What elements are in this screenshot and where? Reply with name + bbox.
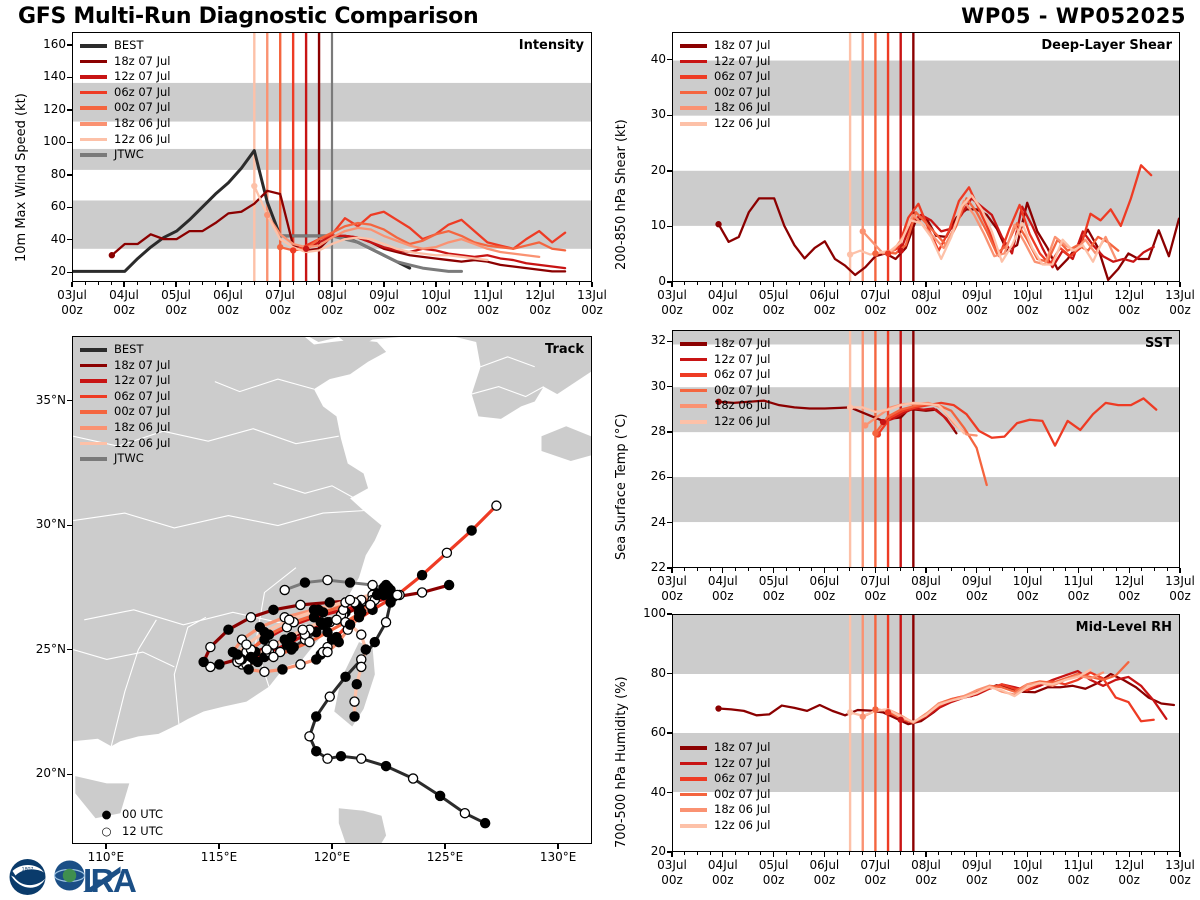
x-minor-tick: [760, 568, 761, 571]
legend-swatch: [680, 75, 707, 79]
x-minor-tick: [475, 282, 476, 285]
x-minor-tick: [1141, 282, 1142, 285]
track-marker-12utc: [206, 642, 215, 651]
x-minor-tick: [254, 282, 255, 285]
legend-label: 18z 06 Jul: [714, 802, 771, 818]
x-minor-tick: [710, 568, 711, 571]
legend-item: 18z 07 Jul: [680, 336, 771, 352]
legend-item: 00z 07 Jul: [80, 404, 171, 420]
run-init-marker: [898, 248, 904, 254]
run-init-marker: [885, 250, 891, 256]
legend-label: JTWC: [114, 147, 144, 163]
legend-swatch: [680, 420, 707, 424]
track-marker-00utc: [418, 571, 427, 580]
legend-item: 06z 07 Jul: [80, 85, 171, 101]
x-minor-tick: [1078, 568, 1079, 571]
legend-item: 18z 06 Jul: [680, 398, 771, 414]
x-tick-label: 03Jul00z: [42, 288, 102, 318]
legend-item: 12z 06 Jul: [680, 116, 771, 132]
y-tick-mark: [67, 44, 72, 45]
x-minor-tick: [397, 282, 398, 285]
track-marker-00utc: [269, 605, 278, 614]
y-tick-mark: [67, 142, 72, 143]
legend-swatch: [80, 457, 107, 461]
legend-swatch: [80, 364, 107, 368]
x-minor-tick: [345, 282, 346, 285]
x-minor-tick: [697, 568, 698, 571]
x-minor-tick: [1053, 282, 1054, 285]
x-tick-label: 07Jul00z: [250, 288, 310, 318]
x-minor-tick: [1154, 568, 1155, 571]
legend-swatch: [680, 824, 707, 828]
track-marker-12utc: [260, 667, 269, 676]
track-marker-12utc: [350, 697, 359, 706]
x-tick-label: 13Jul00z: [1150, 858, 1200, 888]
track-marker-00utc: [287, 645, 296, 654]
run-init-marker: [872, 250, 878, 256]
y-tick-mark: [67, 239, 72, 240]
legend-swatch: [680, 793, 707, 797]
track-marker-12utc: [357, 630, 366, 639]
track-marker-00utc: [316, 618, 325, 627]
x-minor-tick: [1065, 852, 1066, 855]
marker-legend-item: ●00 UTC: [100, 806, 163, 823]
map-lat-tick: [67, 525, 72, 526]
legend-swatch: [80, 106, 107, 110]
track-marker-00utc: [199, 657, 208, 666]
track-marker-00utc: [280, 635, 289, 644]
y-tick-mark: [667, 341, 672, 342]
x-minor-tick: [1141, 568, 1142, 571]
legend-item: 18z 07 Jul: [80, 358, 171, 374]
x-minor-tick: [684, 568, 685, 571]
x-minor-tick: [976, 568, 977, 571]
track-marker-12utc: [296, 600, 305, 609]
legend-item: 12z 07 Jul: [680, 756, 771, 772]
x-minor-tick: [1129, 568, 1130, 571]
legend-label: 00z 07 Jul: [714, 787, 771, 803]
legend-label: 06z 07 Jul: [714, 367, 771, 383]
intensity-panel-tag: Intensity: [519, 38, 584, 53]
x-minor-tick: [913, 282, 914, 285]
x-minor-tick: [1091, 852, 1092, 855]
x-minor-tick: [566, 282, 567, 285]
x-minor-tick: [319, 282, 320, 285]
track-marker-12utc: [381, 618, 390, 627]
marker-legend-item: ○12 UTC: [100, 823, 163, 840]
track-marker-12utc: [262, 645, 271, 654]
x-minor-tick: [710, 852, 711, 855]
legend-item: 12z 06 Jul: [680, 818, 771, 834]
track-marker-00utc: [352, 680, 361, 689]
x-minor-tick: [748, 852, 749, 855]
legend-item: 18z 07 Jul: [680, 38, 771, 54]
legend-label: 12z 06 Jul: [714, 818, 771, 834]
legend-item: 12z 07 Jul: [80, 373, 171, 389]
y-tick-label: 100: [620, 606, 666, 620]
x-tick-hour: 00z: [1150, 589, 1200, 604]
y-tick-label: 0: [620, 274, 666, 288]
x-minor-tick: [1040, 282, 1041, 285]
track-marker-00utc: [467, 526, 476, 535]
legend-item: BEST: [80, 342, 171, 358]
x-minor-tick: [938, 568, 939, 571]
noaa-cira-logo: 1807 IRA: [8, 856, 233, 898]
x-tick-day: 09Jul: [354, 288, 414, 303]
x-tick-day: 10Jul: [406, 288, 466, 303]
y-tick-label: 120: [20, 102, 66, 116]
rh-legend: 18z 07 Jul12z 07 Jul06z 07 Jul00z 07 Jul…: [680, 740, 771, 834]
svg-text:1807: 1807: [22, 867, 34, 873]
map-lat-label: 25°N: [14, 642, 66, 656]
x-minor-tick: [1180, 852, 1181, 855]
x-minor-tick: [462, 282, 463, 285]
track-marker-12utc: [442, 548, 451, 557]
x-minor-tick: [241, 282, 242, 285]
x-minor-tick: [1180, 568, 1181, 571]
x-tick-label: 05Jul00z: [146, 288, 206, 318]
run-init-marker: [872, 430, 878, 436]
legend-item: 06z 07 Jul: [680, 69, 771, 85]
legend-swatch: [680, 122, 707, 126]
shear-legend: 18z 07 Jul12z 07 Jul06z 07 Jul00z 07 Jul…: [680, 38, 771, 132]
x-minor-tick: [85, 282, 86, 285]
track-marker-00utc: [361, 645, 370, 654]
track-marker-00utc: [370, 638, 379, 647]
x-tick-day: 13Jul: [1150, 574, 1200, 589]
x-minor-tick: [1116, 568, 1117, 571]
run-init-marker: [860, 714, 866, 720]
legend-label: 12z 06 Jul: [714, 414, 771, 430]
track-marker-12utc: [323, 647, 332, 656]
y-tick-label: 20: [620, 163, 666, 177]
x-tick-hour: 00z: [1150, 303, 1200, 318]
x-minor-tick: [371, 282, 372, 285]
page-title: GFS Multi-Run Diagnostic Comparison: [18, 4, 478, 29]
y-tick-mark: [67, 207, 72, 208]
sst-legend: 18z 07 Jul12z 07 Jul06z 07 Jul00z 07 Jul…: [680, 336, 771, 430]
x-minor-tick: [849, 568, 850, 571]
legend-swatch: [680, 342, 707, 346]
x-tick-day: 13Jul: [562, 288, 622, 303]
legend-label: 18z 06 Jul: [114, 116, 171, 132]
y-tick-label: 80: [620, 666, 666, 680]
x-minor-tick: [786, 282, 787, 285]
x-tick-day: 06Jul: [198, 288, 258, 303]
x-minor-tick: [1065, 282, 1066, 285]
legend-item: 12z 06 Jul: [80, 436, 171, 452]
marker-glyph: ●: [100, 806, 113, 823]
legend-item: 00z 07 Jul: [680, 787, 771, 803]
legend-label: 12z 07 Jul: [714, 756, 771, 772]
y-tick-label: 20: [620, 844, 666, 858]
legend-item: 00z 07 Jul: [680, 383, 771, 399]
x-tick-hour: 00z: [250, 303, 310, 318]
x-minor-tick: [811, 282, 812, 285]
x-minor-tick: [989, 282, 990, 285]
legend-item: 00z 07 Jul: [680, 85, 771, 101]
x-minor-tick: [875, 568, 876, 571]
legend-label: 12z 07 Jul: [714, 54, 771, 70]
track-marker-00utc: [336, 752, 345, 761]
legend-swatch: [680, 777, 707, 781]
track-marker-00utc: [377, 588, 386, 597]
legend-label: BEST: [114, 342, 143, 358]
track-marker-00utc: [312, 655, 321, 664]
x-minor-tick: [862, 852, 863, 855]
y-tick-mark: [667, 477, 672, 478]
track-marker-12utc: [280, 585, 289, 594]
x-minor-tick: [849, 282, 850, 285]
track-marker-legend: ●00 UTC○12 UTC: [100, 806, 163, 840]
legend-swatch: [80, 138, 107, 142]
x-minor-tick: [1053, 568, 1054, 571]
legend-item: 12z 07 Jul: [680, 352, 771, 368]
x-minor-tick: [228, 282, 229, 285]
legend-label: 00z 07 Jul: [714, 85, 771, 101]
legend-swatch: [680, 762, 707, 766]
x-minor-tick: [1014, 282, 1015, 285]
legend-item: 06z 07 Jul: [680, 771, 771, 787]
x-minor-tick: [760, 852, 761, 855]
x-minor-tick: [111, 282, 112, 285]
legend-label: 06z 07 Jul: [714, 69, 771, 85]
track-marker-12utc: [298, 625, 307, 634]
y-tick-mark: [67, 77, 72, 78]
x-minor-tick: [514, 282, 515, 285]
x-minor-tick: [1078, 852, 1079, 855]
x-minor-tick: [862, 282, 863, 285]
x-tick-day: 08Jul: [302, 288, 362, 303]
x-minor-tick: [1141, 852, 1142, 855]
run-init-marker: [264, 212, 270, 218]
x-minor-tick: [964, 568, 965, 571]
storm-id-title: WP05 - WP052025: [961, 4, 1186, 28]
rh-y-axis-label: 700-500 hPa Humidity (%): [614, 676, 629, 848]
map-lon-tick: [444, 844, 445, 849]
track-marker-12utc: [323, 754, 332, 763]
track-marker-00utc: [278, 665, 287, 674]
run-init-marker: [109, 252, 115, 258]
x-minor-tick: [951, 282, 952, 285]
x-minor-tick: [849, 852, 850, 855]
x-minor-tick: [215, 282, 216, 285]
y-tick-label: 24: [620, 515, 666, 529]
legend-item: 12z 06 Jul: [680, 414, 771, 430]
data-series-line: [901, 671, 1167, 723]
x-minor-tick: [1154, 282, 1155, 285]
x-minor-tick: [189, 282, 190, 285]
legend-label: 12z 06 Jul: [114, 436, 171, 452]
x-minor-tick: [837, 852, 838, 855]
legend-swatch: [80, 75, 107, 79]
track-marker-00utc: [244, 665, 253, 674]
x-minor-tick: [938, 852, 939, 855]
track-marker-00utc: [215, 660, 224, 669]
run-init-marker: [847, 709, 853, 715]
legend-label: BEST: [114, 38, 143, 54]
x-minor-tick: [926, 852, 927, 855]
x-minor-tick: [1103, 282, 1104, 285]
map-lon-tick: [218, 844, 219, 849]
x-minor-tick: [697, 282, 698, 285]
x-minor-tick: [811, 568, 812, 571]
y-tick-mark: [67, 109, 72, 110]
x-minor-tick: [449, 282, 450, 285]
map-lat-tick: [67, 649, 72, 650]
legend-swatch: [80, 348, 107, 352]
track-marker-00utc: [350, 712, 359, 721]
track-marker-00utc: [345, 620, 354, 629]
x-minor-tick: [875, 282, 876, 285]
x-tick-label: 04Jul00z: [94, 288, 154, 318]
x-minor-tick: [202, 282, 203, 285]
x-minor-tick: [773, 282, 774, 285]
x-minor-tick: [900, 282, 901, 285]
legend-label: 18z 07 Jul: [114, 54, 171, 70]
x-minor-tick: [697, 852, 698, 855]
legend-item: 12z 06 Jul: [80, 132, 171, 148]
x-tick-hour: 00z: [94, 303, 154, 318]
legend-item: 18z 06 Jul: [680, 802, 771, 818]
track-marker-00utc: [312, 712, 321, 721]
map-lon-label: 125°E: [415, 850, 475, 865]
x-minor-tick: [1002, 568, 1003, 571]
x-minor-tick: [384, 282, 385, 285]
x-minor-tick: [1014, 852, 1015, 855]
legend-swatch: [80, 442, 107, 446]
legend-item: 00z 07 Jul: [80, 100, 171, 116]
x-minor-tick: [964, 282, 965, 285]
x-tick-day: 11Jul: [458, 288, 518, 303]
x-minor-tick: [887, 852, 888, 855]
y-tick-label: 160: [20, 37, 66, 51]
x-minor-tick: [1180, 282, 1181, 285]
x-tick-hour: 00z: [354, 303, 414, 318]
x-minor-tick: [488, 282, 489, 285]
x-minor-tick: [722, 568, 723, 571]
x-tick-day: 07Jul: [250, 288, 310, 303]
x-minor-tick: [553, 282, 554, 285]
x-minor-tick: [527, 282, 528, 285]
x-minor-tick: [540, 282, 541, 285]
x-minor-tick: [410, 282, 411, 285]
y-tick-mark: [667, 115, 672, 116]
x-minor-tick: [824, 568, 825, 571]
legend-swatch: [680, 808, 707, 812]
x-tick-hour: 00z: [406, 303, 466, 318]
y-tick-label: 100: [20, 134, 66, 148]
track-marker-12utc: [408, 774, 417, 783]
x-minor-tick: [811, 852, 812, 855]
x-tick-day: 13Jul: [1150, 288, 1200, 303]
legend-label: 12z 06 Jul: [714, 116, 771, 132]
x-minor-tick: [1027, 852, 1028, 855]
legend-item: JTWC: [80, 147, 171, 163]
y-tick-label: 40: [620, 52, 666, 66]
y-tick-label: 30: [620, 107, 666, 121]
x-minor-tick: [875, 852, 876, 855]
track-marker-12utc: [305, 732, 314, 741]
x-minor-tick: [1027, 568, 1028, 571]
legend-label: 06z 07 Jul: [114, 389, 171, 405]
x-minor-tick: [989, 852, 990, 855]
x-minor-tick: [684, 852, 685, 855]
x-tick-day: 04Jul: [94, 288, 154, 303]
legend-label: 00z 07 Jul: [114, 100, 171, 116]
legend-swatch: [80, 153, 107, 157]
x-minor-tick: [1129, 852, 1130, 855]
x-minor-tick: [1116, 282, 1117, 285]
x-tick-label: 06Jul00z: [198, 288, 258, 318]
x-tick-hour: 00z: [42, 303, 102, 318]
legend-swatch: [80, 60, 107, 64]
track-marker-00utc: [354, 613, 363, 622]
y-tick-label: 80: [20, 167, 66, 181]
x-tick-hour: 00z: [510, 303, 570, 318]
legend-swatch: [80, 44, 107, 48]
x-minor-tick: [1002, 852, 1003, 855]
track-marker-12utc: [246, 613, 255, 622]
map-lon-label: 130°E: [528, 850, 588, 865]
x-minor-tick: [1167, 282, 1168, 285]
track-marker-00utc: [325, 598, 334, 607]
marker-glyph: ○: [100, 823, 113, 840]
y-tick-mark: [667, 431, 672, 432]
x-minor-tick: [176, 282, 177, 285]
x-minor-tick: [1014, 568, 1015, 571]
run-init-marker: [872, 706, 878, 712]
legend-item: JTWC: [80, 451, 171, 467]
y-tick-label: 30: [620, 379, 666, 393]
map-lat-tick: [67, 774, 72, 775]
y-tick-mark: [667, 386, 672, 387]
x-minor-tick: [1167, 568, 1168, 571]
track-marker-00utc: [260, 628, 269, 637]
x-tick-day: 05Jul: [146, 288, 206, 303]
x-minor-tick: [824, 852, 825, 855]
x-tick-day: 13Jul: [1150, 858, 1200, 873]
track-marker-00utc: [314, 605, 323, 614]
legend-label: JTWC: [114, 451, 144, 467]
x-minor-tick: [423, 282, 424, 285]
map-lat-label: 30°N: [14, 517, 66, 531]
track-marker-12utc: [323, 575, 332, 584]
x-minor-tick: [951, 852, 952, 855]
legend-label: 18z 06 Jul: [714, 398, 771, 414]
x-minor-tick: [748, 282, 749, 285]
x-tick-label: 13Jul00z: [1150, 288, 1200, 318]
legend-label: 06z 07 Jul: [114, 85, 171, 101]
legend-swatch: [680, 60, 707, 64]
map-lon-tick: [331, 844, 332, 849]
x-minor-tick: [98, 282, 99, 285]
y-tick-mark: [667, 226, 672, 227]
x-tick-label: 13Jul00z: [562, 288, 622, 318]
legend-swatch: [680, 404, 707, 408]
x-minor-tick: [926, 282, 927, 285]
x-minor-tick: [748, 568, 749, 571]
track-marker-12utc: [242, 640, 251, 649]
x-minor-tick: [760, 282, 761, 285]
x-tick-hour: 00z: [146, 303, 206, 318]
track-marker-00utc: [300, 578, 309, 587]
track-marker-12utc: [269, 652, 278, 661]
x-minor-tick: [267, 282, 268, 285]
y-tick-mark: [667, 732, 672, 733]
legend-swatch: [680, 389, 707, 393]
y-tick-mark: [667, 522, 672, 523]
